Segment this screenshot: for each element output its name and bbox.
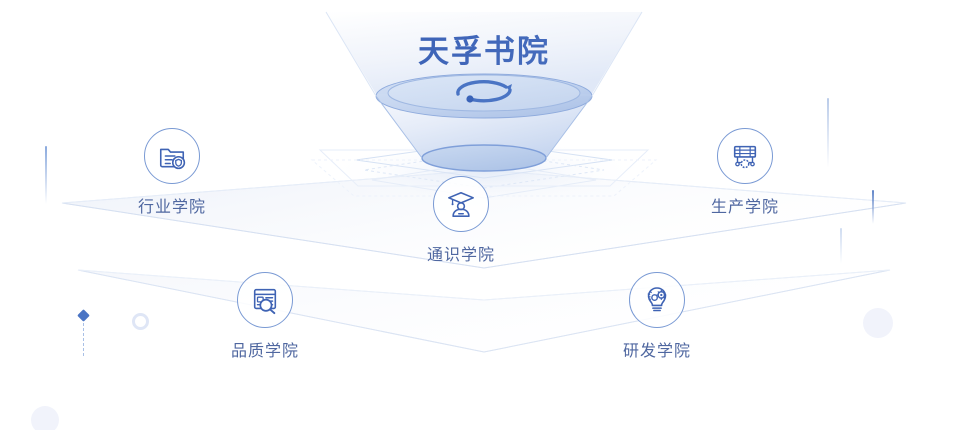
- blob-circle-left: [31, 406, 59, 430]
- vertical-line-left: [45, 146, 47, 204]
- node-general-label: 通识学院: [427, 241, 495, 265]
- vertical-line-right-c: [840, 228, 842, 264]
- node-production-circle[interactable]: [717, 128, 773, 184]
- node-general-circle[interactable]: [433, 176, 489, 232]
- dashed-drop-line: [83, 318, 84, 356]
- node-industry-circle[interactable]: [144, 128, 200, 184]
- funnel-shape: [326, 12, 642, 171]
- node-production[interactable]: 生产学院: [693, 128, 797, 217]
- node-quality-circle[interactable]: [237, 272, 293, 328]
- document-magnifier-icon: [250, 285, 280, 315]
- node-rd[interactable]: 研发学院: [605, 272, 709, 361]
- node-rd-label: 研发学院: [623, 337, 691, 361]
- vertical-line-right-a: [827, 98, 829, 168]
- plane-lower: [78, 270, 890, 352]
- node-general[interactable]: 通识学院: [409, 176, 513, 265]
- academy-hero-diagram: 天孚书院 行业学院: [0, 0, 968, 430]
- node-industry[interactable]: 行业学院: [120, 128, 224, 217]
- ring-outline: [132, 313, 149, 330]
- lightbulb-gears-icon: [642, 285, 672, 315]
- blob-circle-right: [863, 308, 893, 338]
- node-industry-label: 行业学院: [138, 193, 206, 217]
- node-production-label: 生产学院: [711, 193, 779, 217]
- vertical-line-right-b: [872, 190, 874, 224]
- graduate-student-icon: [446, 189, 476, 219]
- node-rd-circle[interactable]: [629, 272, 685, 328]
- node-quality-label: 品质学院: [231, 337, 299, 361]
- server-rack-network-icon: [730, 141, 760, 171]
- node-quality[interactable]: 品质学院: [213, 272, 317, 361]
- folder-shield-icon: [157, 141, 187, 171]
